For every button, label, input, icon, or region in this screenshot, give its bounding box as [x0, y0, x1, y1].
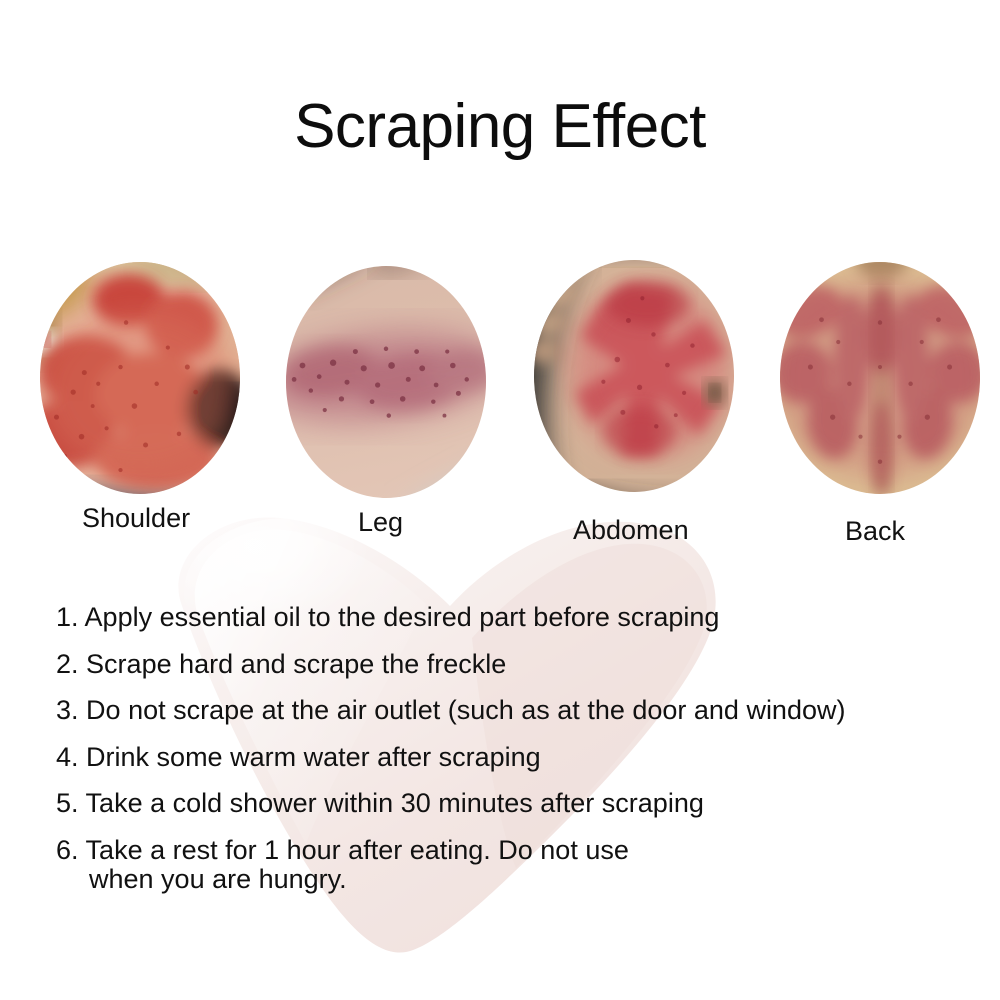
instruction-item-4: 4. Drink some warm water after scraping: [56, 744, 986, 772]
gallery-image-back: [780, 262, 980, 494]
leg-gua-sha-photo: [286, 266, 486, 498]
instruction-text-1: Apply essential oil to the desired part …: [85, 602, 720, 632]
instruction-number-2: 2.: [56, 649, 79, 679]
instruction-item-1: 1. Apply essential oil to the desired pa…: [56, 604, 986, 632]
back-gua-sha-photo: [780, 262, 980, 494]
instruction-number-4: 4.: [56, 742, 79, 772]
gallery-label-shoulder: Shoulder: [82, 505, 190, 532]
instruction-text-4: Drink some warm water after scraping: [86, 742, 541, 772]
instruction-text-3: Do not scrape at the air outlet (such as…: [86, 695, 845, 725]
instruction-item-6: 6. Take a rest for 1 hour after eating. …: [56, 837, 986, 894]
gallery-label-abdomen: Abdomen: [573, 517, 689, 544]
gallery-image-leg: [286, 266, 486, 498]
page-title: Scraping Effect: [0, 96, 1000, 158]
shoulder-gua-sha-photo: [40, 262, 240, 494]
instruction-item-2: 2. Scrape hard and scrape the freckle: [56, 651, 986, 679]
abdomen-gua-sha-photo: [534, 260, 734, 492]
instruction-item-3: 3. Do not scrape at the air outlet (such…: [56, 697, 986, 725]
instruction-text-2: Scrape hard and scrape the freckle: [86, 649, 506, 679]
gallery-label-back: Back: [845, 518, 905, 545]
scraping-effect-infographic: Scraping Effect: [0, 0, 1000, 1000]
instruction-list: 1. Apply essential oil to the desired pa…: [56, 604, 986, 913]
instruction-item-5: 5. Take a cold shower within 30 minutes …: [56, 790, 986, 818]
instruction-number-3: 3.: [56, 695, 79, 725]
instruction-text-5: Take a cold shower within 30 minutes aft…: [86, 788, 704, 818]
gallery-image-shoulder: [40, 262, 240, 494]
instruction-number-1: 1.: [56, 602, 79, 632]
instruction-text-6: Take a rest for 1 hour after eating. Do …: [86, 835, 629, 865]
instruction-text-6-line2: when you are hungry.: [56, 866, 986, 894]
instruction-number-6: 6.: [56, 835, 79, 865]
gallery-image-abdomen: [534, 260, 734, 492]
gallery-label-leg: Leg: [358, 509, 403, 536]
instruction-number-5: 5.: [56, 788, 79, 818]
